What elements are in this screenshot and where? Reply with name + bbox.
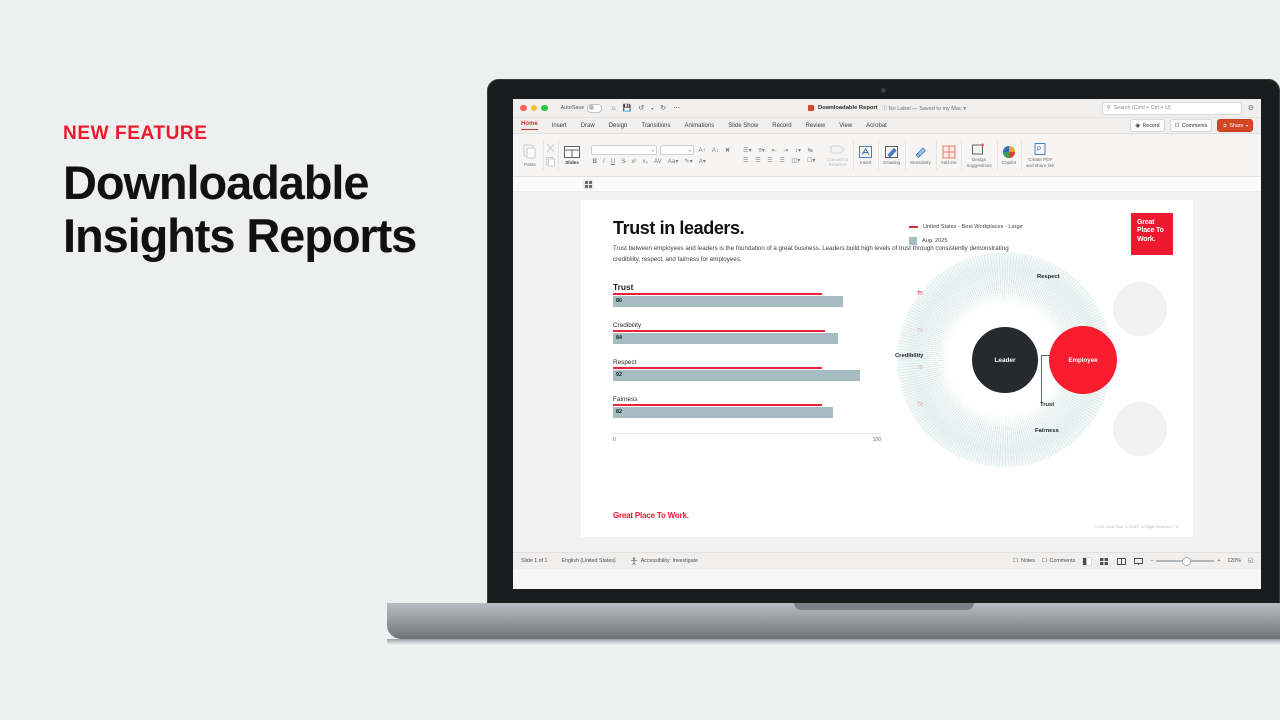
promo-headline-line1: Downloadable [63, 157, 463, 210]
drawing-pen-icon [884, 145, 899, 159]
quick-access-toolbar[interactable]: ⌂ 💾 ↺ ▾ ↻ ⋯ [611, 104, 680, 112]
notes-icon: ☐ [1013, 558, 1018, 564]
ribbon-display-options-icon[interactable]: ⚙ [1248, 104, 1254, 112]
ribbon-group-drawing[interactable]: Drawing [878, 134, 905, 176]
trust-label: Trust [1040, 402, 1054, 408]
chart-legend: United States - Best Workplaces - Large … [909, 224, 1023, 252]
slide-layout-icon[interactable] [583, 179, 594, 190]
accessibility-icon [630, 557, 638, 565]
insert-text-box-icon [858, 145, 873, 159]
laptop-base [387, 603, 1280, 639]
font-name-select[interactable]: ▾ [591, 145, 657, 155]
tab-draw[interactable]: Draw [581, 123, 595, 129]
clear-formatting-icon[interactable]: ✖ [723, 147, 731, 154]
leader-label: Leader [995, 357, 1016, 364]
employee-circle: Employee [1049, 326, 1117, 394]
chart-axis: 0 100 [613, 433, 881, 446]
text-highlight-icon[interactable]: ✎▾ [683, 158, 694, 165]
reading-view-icon [1117, 558, 1126, 565]
bar-label-trust: Trust [613, 282, 881, 292]
search-icon: ⚲ [1107, 105, 1111, 111]
ribbon-group-create-pdf[interactable]: P Create PDF and share link [1021, 134, 1060, 176]
font-size-select[interactable]: ▾ [660, 145, 694, 155]
notes-button[interactable]: ☐ Notes [1013, 558, 1035, 564]
status-bar-right: ☐ Notes ☐ Comments [1013, 557, 1253, 566]
numbering-icon[interactable]: ≡▾ [757, 147, 767, 154]
convert-smartart-label: Convert to SmartArt [827, 157, 848, 168]
more-options-icon[interactable]: ⋯ [673, 104, 680, 112]
tab-insert[interactable]: Insert [552, 123, 567, 129]
tab-home[interactable]: Home [521, 121, 538, 130]
copilot-icon [1002, 145, 1016, 159]
ribbon-group-font: ▾ ▾ A↑ A↓ ✖ B I U S̶ x² x₂ AV Aa▾ [586, 134, 737, 176]
share-button[interactable]: ➲ Share ▾ [1217, 119, 1253, 132]
save-icon[interactable]: 💾 [623, 104, 632, 112]
language-indicator[interactable]: English (United States) [562, 558, 616, 564]
create-pdf-label: Create PDF and share link [1026, 157, 1055, 168]
character-spacing-icon[interactable]: AV [652, 158, 663, 165]
copilot-label: Copilot [1002, 160, 1016, 165]
bold-icon[interactable]: B [591, 158, 598, 165]
benchmark-line-credibility [613, 330, 825, 332]
bar-track-trust: 86 78 [613, 296, 881, 307]
search-placeholder: Search (Cmd + Ctrl + U) [1114, 105, 1171, 111]
accessibility-label: Accessibility: Investigate [641, 558, 698, 564]
slides-label: Slides [565, 160, 579, 165]
bar-value-trust: 86 [616, 298, 622, 304]
font-row-top: ▾ ▾ A↑ A↓ ✖ [591, 145, 732, 155]
search-input[interactable]: ⚲ Search (Cmd + Ctrl + U) [1102, 102, 1242, 115]
promo-panel: NEW FEATURE Downloadable Insights Report… [63, 124, 463, 262]
ribbon-tab-strip[interactable]: Home Insert Draw Design Transitions Anim… [513, 118, 1261, 134]
comment-bubble-icon: ☐ [1175, 123, 1180, 129]
ghost-circle-bottom [1113, 402, 1167, 456]
record-button[interactable]: ◉ Record [1130, 119, 1164, 132]
align-text-icon[interactable]: ☐▾ [805, 157, 817, 164]
comments-button-label: Comments [1182, 123, 1208, 129]
ribbon-group-addins[interactable]: Add-ins [936, 134, 962, 176]
increase-indent-icon[interactable]: ⇥ [782, 147, 790, 154]
slideshow-icon [1134, 558, 1143, 565]
notes-label: Notes [1021, 558, 1035, 564]
paragraph-row-bottom: ☰ ☰ ☰ ☰ ◫▾ ☐▾ [742, 157, 817, 164]
insert-label: Insert [860, 160, 872, 165]
legend-item-benchmark: United States - Best Workplaces - Large [909, 224, 1023, 230]
promo-eyebrow: NEW FEATURE [63, 124, 463, 143]
tab-slide-show[interactable]: Slide Show [728, 123, 758, 129]
titlebar-right: ⚲ Search (Cmd + Ctrl + U) ⚙ [1102, 102, 1254, 115]
employee-label: Employee [1068, 357, 1097, 364]
legend-item-current: Aug. 2025 [909, 237, 1023, 245]
comment-bubble-icon: ☐ [1042, 558, 1047, 564]
fit-to-window-icon[interactable]: ◱ [1248, 558, 1253, 564]
autosave-toggle[interactable] [587, 104, 602, 113]
font-color-icon[interactable]: A▾ [697, 158, 707, 165]
zoom-level[interactable]: 120% [1227, 558, 1241, 564]
laptop-screen: AutoSave ⌂ 💾 ↺ ▾ ↻ ⋯ Downloadable Report… [513, 99, 1261, 589]
bar-fill-trust [613, 296, 843, 307]
design-suggestions-label: Design Suggestions [966, 157, 991, 168]
bar-fill-credibility [613, 333, 838, 344]
window-titlebar: AutoSave ⌂ 💾 ↺ ▾ ↻ ⋯ Downloadable Report… [513, 99, 1261, 118]
underline-icon[interactable]: U [609, 158, 616, 165]
undo-icon[interactable]: ↺ [638, 104, 644, 112]
new-slide-icon [563, 145, 581, 159]
slide-title[interactable]: Trust in leaders. [613, 218, 744, 239]
axis-max-label: 100 [873, 437, 881, 443]
sensitivity-icon [913, 145, 928, 159]
zoom-in-icon[interactable]: + [1217, 558, 1220, 564]
align-center-icon[interactable]: ☰ [754, 157, 763, 164]
ghost-circle-top [1113, 282, 1167, 336]
powerpoint-icon [808, 105, 814, 111]
bar-label-credibility: Credibility [613, 322, 881, 329]
ribbon-group-slides[interactable]: Slides [558, 134, 586, 176]
tab-transitions[interactable]: Transitions [641, 123, 670, 129]
svg-text:P: P [1037, 147, 1041, 153]
status-bar: Slide 1 of 1 English (United States) Acc… [513, 552, 1261, 569]
share-button-label: Share [1229, 123, 1243, 129]
trust-bar-chart[interactable]: Trust 86 78 Credibility [613, 282, 881, 446]
bar-fill-respect [613, 370, 860, 381]
columns-icon[interactable]: ◫▾ [790, 157, 802, 164]
ribbon-group-insert[interactable]: Insert [853, 134, 878, 176]
traffic-lights[interactable] [520, 105, 548, 112]
tab-review[interactable]: Review [806, 123, 826, 129]
trust-model-diagram: Leader Employee Credibility Respect Fair… [887, 250, 1173, 522]
credibility-label: Credibility [895, 353, 923, 359]
legend-line-swatch [909, 226, 918, 228]
tab-design[interactable]: Design [609, 123, 628, 129]
slide-footer-logo: Great Place To Work. [613, 511, 689, 520]
ribbon-actions: ◉ Record ☐ Comments ➲ Share ▾ [1130, 119, 1253, 132]
subscript-icon[interactable]: x₂ [641, 158, 650, 165]
align-left-icon[interactable]: ☰ [742, 157, 751, 164]
ribbon-toolbar: Paste Sl [513, 134, 1261, 177]
tab-view[interactable]: View [839, 123, 852, 129]
bar-value-fairness: 82 [616, 409, 622, 415]
slide-count[interactable]: Slide 1 of 1 [521, 558, 548, 564]
document-title-group: Downloadable Report ⓘ No Label — Saved t… [808, 104, 966, 112]
ribbon-group-convert-smartart[interactable]: Convert to SmartArt [822, 134, 853, 176]
normal-view-icon [1083, 558, 1091, 565]
paste-icon [522, 143, 538, 161]
align-right-icon[interactable]: ☰ [766, 157, 775, 164]
bar-track-respect: 92 78 [613, 370, 881, 381]
decrease-indent-icon[interactable]: ⇤ [770, 147, 778, 154]
add-ins-label: Add-ins [941, 160, 957, 165]
legend-label-benchmark: United States - Best Workplaces - Large [923, 224, 1023, 230]
bar-label-fairness: Fairness [613, 396, 881, 403]
view-slide-sorter-button[interactable] [1099, 557, 1109, 566]
design-suggestions-icon [971, 142, 986, 156]
accessibility-status[interactable]: Accessibility: Investigate [630, 557, 698, 565]
bar-row-trust: Trust 86 78 [613, 282, 881, 307]
drawing-label: Drawing [883, 160, 900, 165]
paragraph-row-top: ☰▾ ≡▾ ⇤ ⇥ ↕▾ ↹ [742, 147, 817, 154]
minimize-window-icon[interactable] [531, 105, 538, 112]
strikethrough-icon[interactable]: S̶ [620, 158, 627, 165]
justify-icon[interactable]: ☰ [778, 157, 787, 164]
maximize-window-icon[interactable] [541, 105, 548, 112]
view-reading-button[interactable] [1116, 557, 1126, 566]
font-row-bottom: B I U S̶ x² x₂ AV Aa▾ ✎▾ A▾ [591, 158, 732, 165]
leader-circle: Leader [969, 324, 1041, 396]
comments-button[interactable]: ☐ Comments [1170, 119, 1213, 132]
promo-headline-line2: Insights Reports [63, 210, 463, 263]
convert-to-smartart-icon [829, 143, 846, 156]
add-ins-icon [942, 145, 956, 159]
change-case-icon[interactable]: Aa▾ [666, 158, 680, 165]
zoom-knob[interactable] [1182, 557, 1191, 566]
chevron-down-icon: ▾ [1246, 123, 1248, 128]
promo-headline: Downloadable Insights Reports [63, 157, 463, 262]
slide-sorter-icon [1100, 558, 1108, 565]
webcam [881, 88, 886, 93]
decrease-font-size-icon[interactable]: A↓ [710, 147, 720, 154]
bar-label-respect: Respect [613, 359, 881, 366]
tab-acrobat[interactable]: Acrobat [866, 123, 887, 129]
legend-label-current: Aug. 2025 [922, 238, 948, 244]
share-icon: ➲ [1222, 123, 1226, 129]
record-button-label: Record [1142, 123, 1159, 129]
axis-min-label: 0 [613, 437, 616, 443]
ribbon-group-paste[interactable]: Paste [517, 134, 543, 176]
comments-status-button[interactable]: ☐ Comments [1042, 558, 1075, 564]
cut-icon [545, 143, 556, 154]
view-presenter-button[interactable] [1133, 557, 1143, 566]
ribbon-group-sensitivity[interactable]: Sensitivity [905, 134, 936, 176]
laptop-mockup: AutoSave ⌂ 💾 ↺ ▾ ↻ ⋯ Downloadable Report… [487, 79, 1280, 639]
superscript-icon[interactable]: x² [630, 158, 638, 165]
zoom-track[interactable] [1156, 560, 1214, 562]
ribbon-group-paragraph: ☰▾ ≡▾ ⇤ ⇥ ↕▾ ↹ ☰ ☰ ☰ ☰ ◫▾ ☐▾ [737, 134, 822, 176]
document-meta[interactable]: ⓘ No Label — Saved to my Mac ▾ [882, 104, 966, 112]
slide-surface[interactable]: Trust in leaders. Trust between employee… [581, 200, 1193, 537]
gptw-logo: Great Place To Work. [1131, 213, 1173, 255]
create-pdf-icon: P [1033, 142, 1048, 156]
slide-canvas[interactable]: Trust in leaders. Trust between employee… [513, 192, 1261, 552]
slide-copyright: ©2025 Great Place To Work®. All Rights R… [1094, 525, 1179, 529]
ribbon-group-clipboard-extras[interactable] [543, 134, 558, 176]
benchmark-line-respect [613, 367, 822, 369]
zoom-out-icon[interactable]: − [1150, 558, 1153, 564]
bar-value-respect: 92 [616, 372, 622, 378]
ribbon-group-design-suggestions[interactable]: Design Suggestions [961, 134, 996, 176]
sensitivity-label: Sensitivity [910, 160, 931, 165]
fairness-label: Fairness [1035, 428, 1059, 434]
home-icon[interactable]: ⌂ [611, 105, 615, 112]
gptw-logo-text: Great Place To Work. [1137, 219, 1164, 243]
zoom-slider[interactable]: − + [1150, 558, 1220, 564]
legend-square-swatch [909, 237, 917, 245]
benchmark-line-fairness [613, 404, 822, 406]
bullets-icon[interactable]: ☰▾ [742, 147, 754, 154]
text-direction-icon[interactable]: ↹ [806, 147, 814, 154]
chevron-down-icon[interactable]: ▾ [651, 106, 653, 111]
bar-row-fairness: Fairness 82 78 [613, 396, 881, 418]
grid-small-icon [585, 181, 592, 188]
slide-context-toolbar [513, 177, 1261, 192]
copy-icon [545, 156, 556, 167]
comments-status-label: Comments [1050, 558, 1076, 564]
benchmark-line-trust [613, 293, 822, 295]
bar-row-credibility: Credibility 84 79 [613, 322, 881, 344]
bar-fill-fairness [613, 407, 833, 418]
tab-animations[interactable]: Animations [685, 123, 715, 129]
tab-record[interactable]: Record [772, 123, 791, 129]
bar-track-fairness: 82 78 [613, 407, 881, 418]
autosave-label: AutoSave [561, 105, 585, 111]
bar-row-respect: Respect 92 78 [613, 359, 881, 381]
respect-label: Respect [1037, 274, 1060, 280]
laptop-lid: AutoSave ⌂ 💾 ↺ ▾ ↻ ⋯ Downloadable Report… [487, 79, 1280, 607]
close-window-icon[interactable] [520, 105, 527, 112]
increase-font-size-icon[interactable]: A↑ [697, 147, 707, 154]
bar-track-credibility: 84 79 [613, 333, 881, 344]
ribbon-group-copilot[interactable]: Copilot [997, 134, 1021, 176]
line-spacing-icon[interactable]: ↕▾ [793, 147, 802, 154]
record-icon: ◉ [1135, 123, 1140, 129]
italic-icon[interactable]: I [601, 158, 606, 165]
bar-value-credibility: 84 [616, 335, 622, 341]
document-name[interactable]: Downloadable Report [818, 105, 878, 111]
paste-label: Paste [524, 162, 536, 167]
laptop-shadow [387, 639, 1280, 645]
redo-icon[interactable]: ↻ [660, 104, 666, 112]
view-normal-button[interactable] [1082, 557, 1092, 566]
